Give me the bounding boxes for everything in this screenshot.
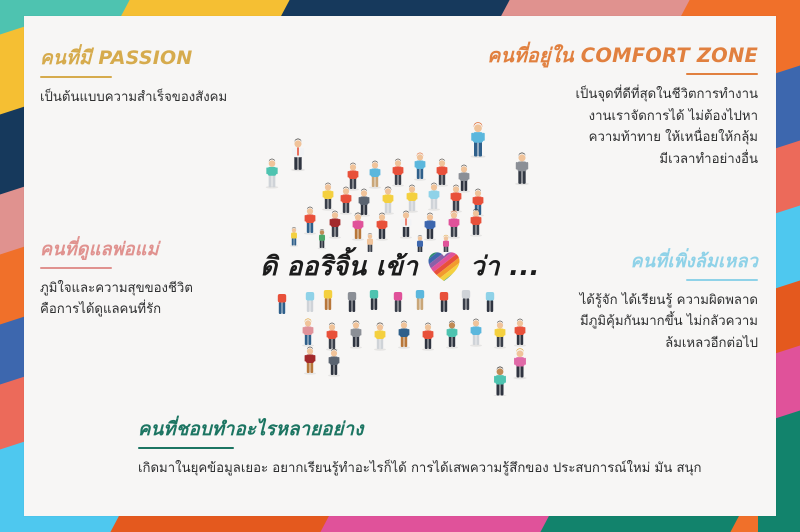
crowd-cluster-lower (252, 288, 552, 396)
multi-underline (138, 447, 234, 449)
parents-underline (40, 267, 112, 269)
passion-underline (40, 76, 112, 78)
comfort-zone-underline (686, 73, 758, 75)
crowd-lower-svg (252, 288, 552, 396)
multi-body: เกิดมาในยุคข้อมูลเยอะ อยากเรียนรู้ทำอะไร… (138, 458, 702, 479)
multi-heading: คนที่ชอบทำอะไรหลายอย่าง (138, 420, 702, 440)
failed-underline (686, 279, 758, 281)
parents-heading: คนที่ดูแลพ่อแม่ (40, 240, 193, 260)
block-caring-for-parents: คนที่ดูแลพ่อแม่ ภูมิใจและความสุขของชีวิต… (40, 240, 193, 321)
parents-body: ภูมิใจและความสุขของชีวิต คือการได้ดูแลคน… (40, 278, 193, 321)
failed-heading: คนที่เพิ่งล้มเหลว (580, 252, 758, 272)
passion-body: เป็นต้นแบบความสำเร็จของสังคม (40, 87, 227, 108)
comfort-zone-body: เป็นจุดที่ดีที่สุดในชีวิตการทำงาน งานเรา… (487, 84, 758, 170)
passion-heading: คนที่มี PASSION (40, 48, 227, 69)
striped-heart-icon (427, 251, 461, 282)
block-passion: คนที่มี PASSION เป็นต้นแบบความสำเร็จของส… (40, 48, 227, 108)
headline-text-after: ว่า ... (470, 246, 540, 287)
block-recently-failed: คนที่เพิ่งล้มเหลว ได้รู้จัก ได้เรียนรู้ … (580, 252, 758, 354)
block-comfort-zone: คนที่อยู่ใน COMFORT ZONE เป็นจุดที่ดีที่… (487, 45, 758, 170)
infographic-poster: ดิ ออริจิ้น เข้า (0, 0, 800, 532)
comfort-zone-heading: คนที่อยู่ใน COMFORT ZONE (487, 45, 758, 66)
headline-text-before: ดิ ออริจิ้น เข้า (260, 246, 418, 287)
block-multi-interest: คนที่ชอบทำอะไรหลายอย่าง เกิดมาในยุคข้อมู… (138, 420, 702, 480)
failed-body: ได้รู้จัก ได้เรียนรู้ ความผิดพลาด มีภูมิ… (580, 290, 758, 354)
